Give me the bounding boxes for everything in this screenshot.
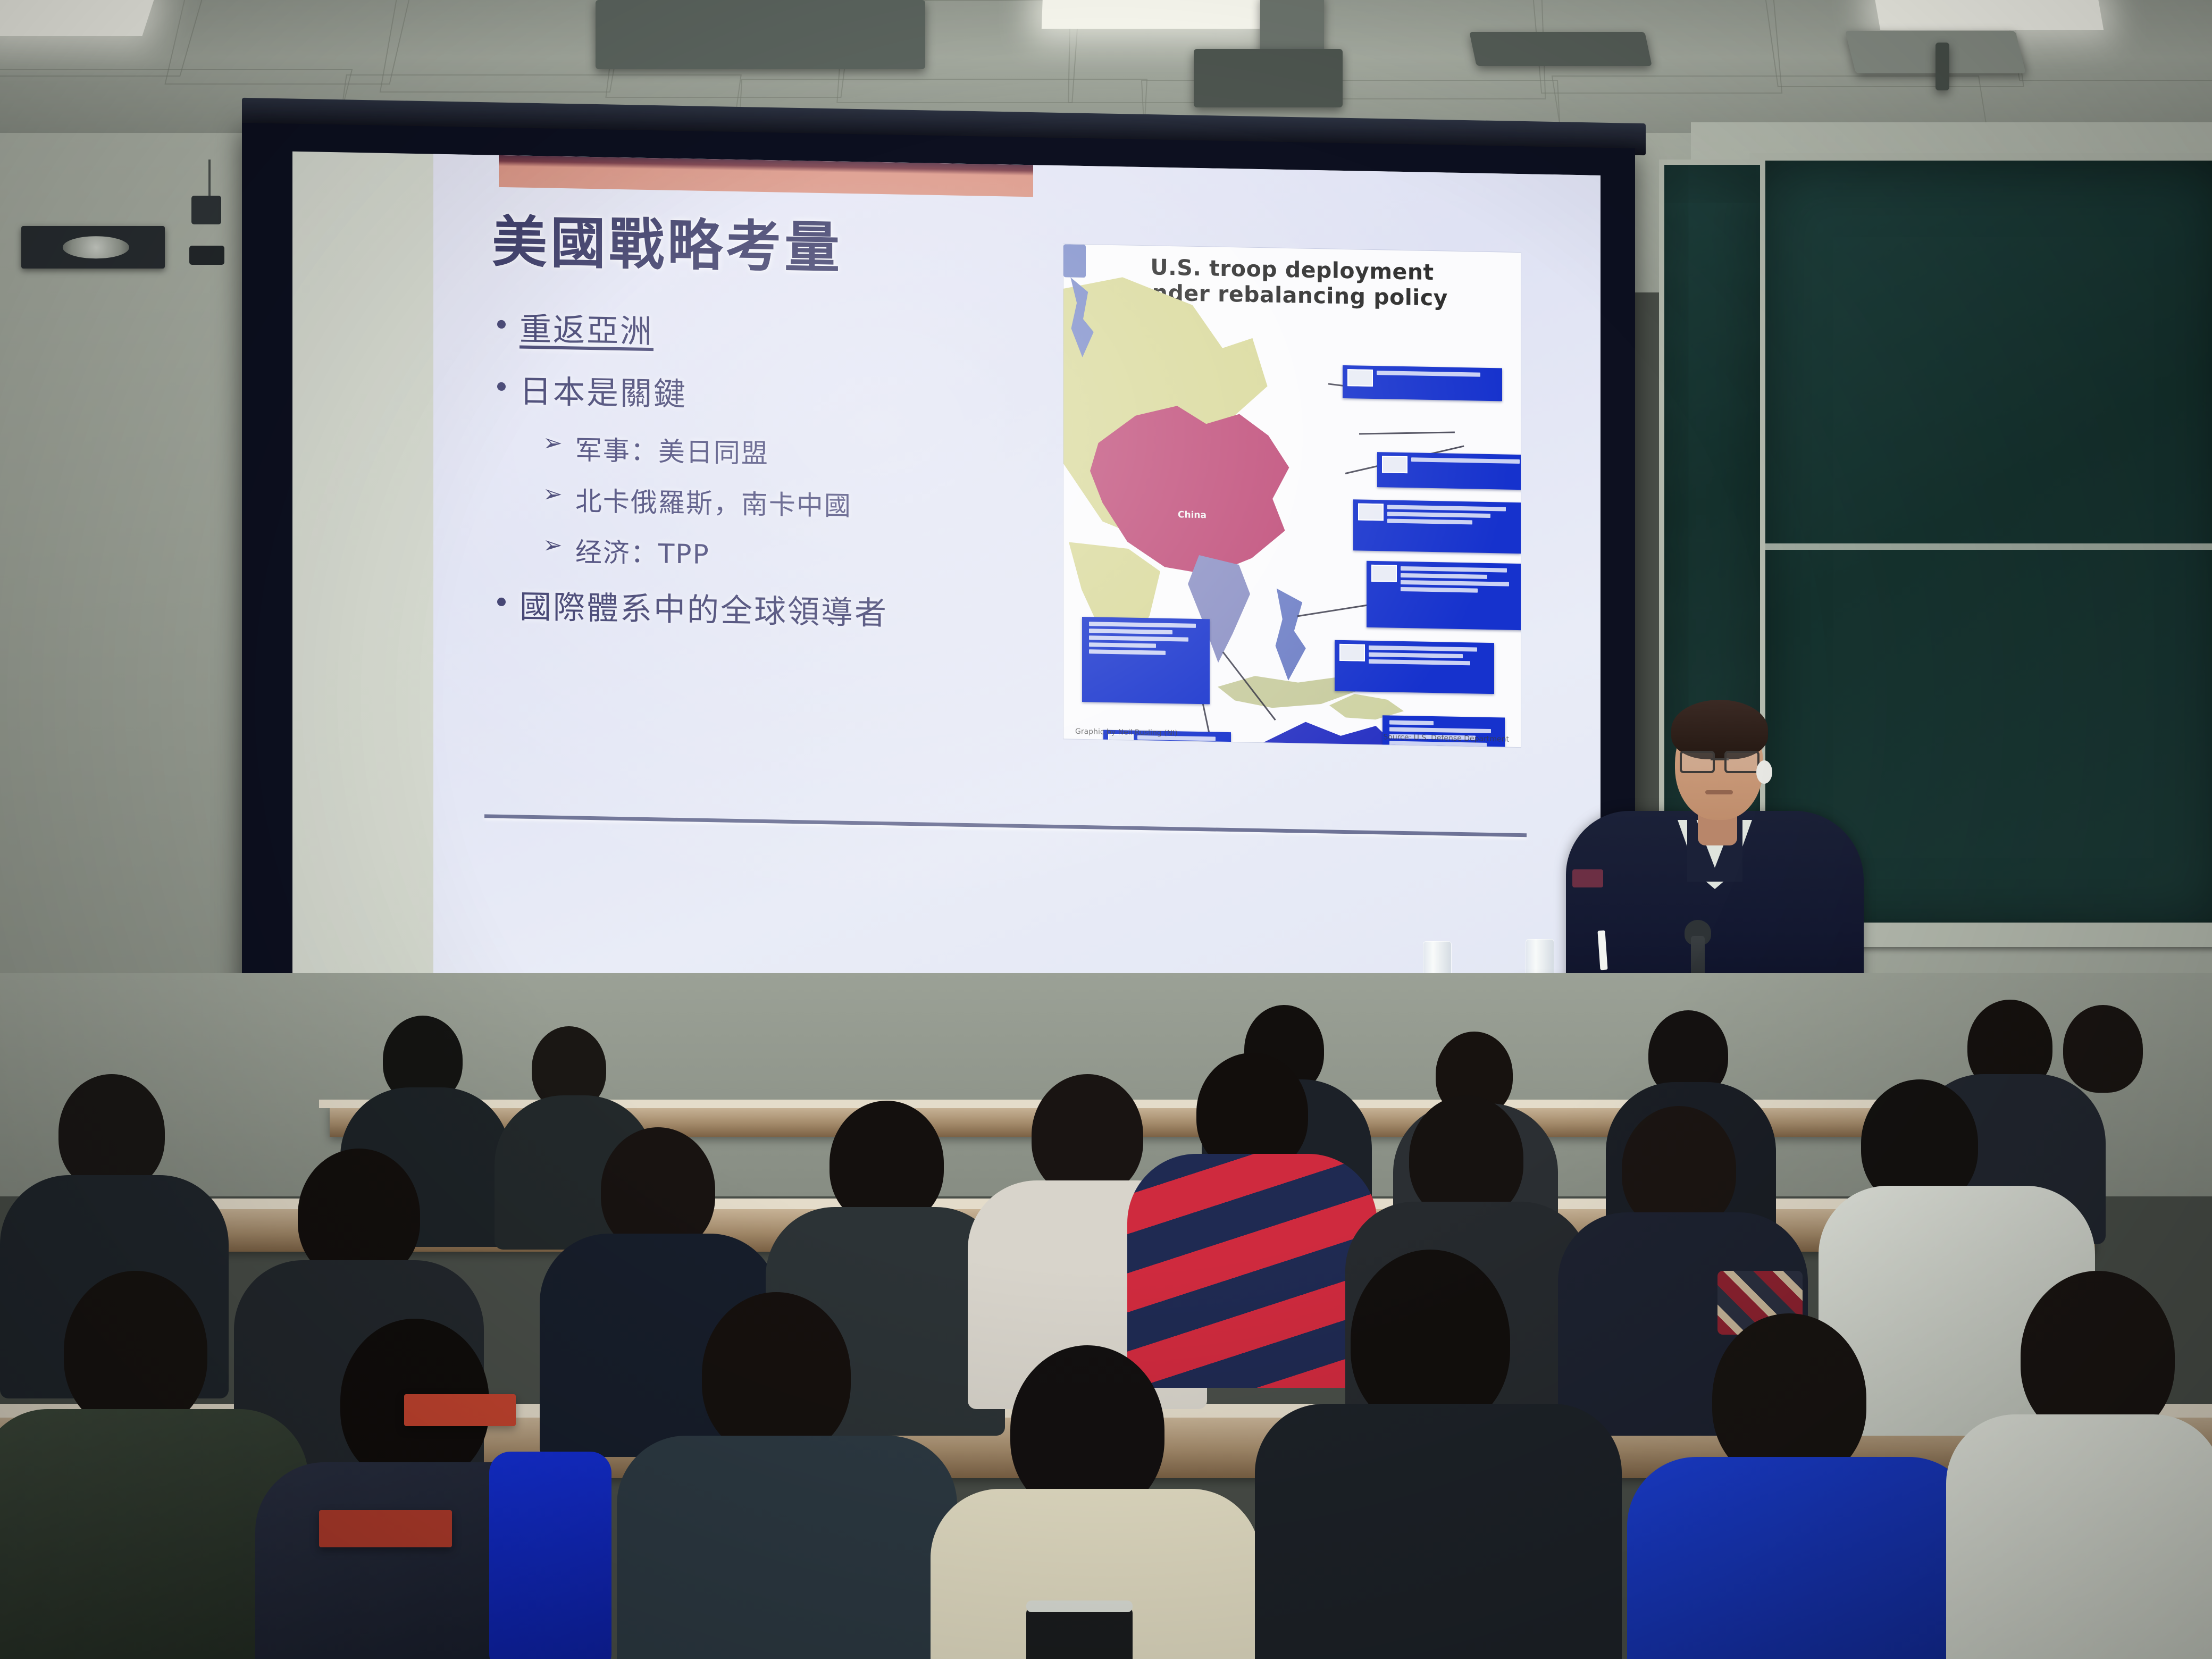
ceiling-light (1042, 0, 1261, 29)
bullet-dot-icon (497, 598, 506, 606)
map-callout (1082, 617, 1210, 704)
flag-icon-south-korea (1347, 369, 1373, 387)
slide-accent-bar (499, 155, 1033, 197)
bullet-text: 國際體系中的全球領導者 (520, 581, 888, 634)
arrow-bullet-icon: ➢ (543, 428, 564, 458)
audience-head (1032, 1074, 1143, 1196)
map-credit-left: Graphic by Neil Rusling (NI) (1075, 727, 1178, 738)
desk-notebook (404, 1394, 516, 1426)
paper-cup-rim (1026, 1601, 1133, 1612)
arrow-bullet-icon: ➢ (543, 530, 564, 560)
wall-speaker (21, 226, 165, 269)
map-region-label-china: China (1178, 509, 1206, 521)
audience-body (1255, 1404, 1622, 1659)
flag-icon-guam (1358, 503, 1384, 521)
sprinkler-head (1935, 43, 1949, 90)
camera-bracket (189, 246, 224, 265)
map-callout (1377, 452, 1521, 490)
slide-bullet-list: 重返亞洲 日本是關鍵 ➢ 军事：美日同盟 ➢ 北卡俄羅斯，南卡中國 (497, 303, 1050, 653)
sub-bullet-text: 北卡俄羅斯，南卡中國 (575, 480, 852, 523)
audience-body-white-puffer (1946, 1414, 2212, 1659)
speaker-mouth (1705, 790, 1733, 794)
projection-screen-frame: 美國戰略考量 重返亞洲 日本是關鍵 ➢ 军事：美日同盟 (242, 123, 1635, 1058)
bullet-item: 國際體系中的全球領導者 (497, 581, 1050, 637)
audience-head (58, 1074, 165, 1191)
projector (596, 0, 925, 69)
lecture-hall-photo: 美國戰略考量 重返亞洲 日本是關鍵 ➢ 军事：美日同盟 (0, 0, 2212, 1659)
projector-vent (1469, 32, 1652, 66)
slide-divider-line (484, 814, 1527, 837)
audience-head (1351, 1250, 1510, 1430)
bullet-dot-icon (497, 320, 506, 329)
speaker-presenter (1566, 686, 1864, 1005)
map-callout (1367, 561, 1521, 630)
bullet-item: 日本是關鍵 (497, 365, 1050, 422)
security-camera (191, 196, 221, 224)
presentation-slide: 美國戰略考量 重返亞洲 日本是關鍵 ➢ 军事：美日同盟 (433, 154, 1601, 1002)
sub-bullet-text: 经济：TPP (575, 531, 710, 572)
bullet-text: 日本是關鍵 (520, 366, 687, 415)
flag-icon-philippines (1371, 565, 1397, 582)
ceiling-light (1874, 0, 2104, 30)
ceiling-light (0, 0, 156, 36)
speaker-earpiece (1756, 760, 1772, 784)
glasses-icon (1680, 751, 1759, 769)
map-callout (1343, 365, 1502, 401)
blackboard-divider-rail (1757, 543, 2212, 550)
audience-body-blue-jacket (1627, 1457, 1978, 1659)
projector-lens-housing (1194, 49, 1343, 107)
map-graphic: U.S. troop deployment under rebalancing … (1063, 244, 1521, 747)
map-landmass-philippines (1260, 588, 1319, 685)
map-callout (1353, 499, 1521, 554)
sub-bullet-item: ➢ 经济：TPP (543, 530, 1050, 577)
bullet-item: 重返亞洲 (497, 303, 1050, 359)
audience-area (0, 973, 2212, 1659)
audience-head-glasses (2063, 1005, 2143, 1093)
sub-bullet-item: ➢ 北卡俄羅斯，南卡中國 (543, 479, 1050, 526)
sub-bullet-text: 军事：美日同盟 (575, 429, 769, 471)
bullet-text: 重返亞洲 (520, 304, 653, 353)
flag-icon-singapore (1339, 644, 1365, 661)
desk-notebook (319, 1510, 452, 1547)
audience-body-striped-jacket (1127, 1154, 1377, 1388)
map-leader-line (1359, 432, 1455, 435)
backpack-strap (489, 1452, 611, 1659)
audience-body (617, 1436, 957, 1659)
slide-title: 美國戰略考量 (492, 197, 843, 283)
audience-head (702, 1292, 851, 1457)
sub-bullet-item: ➢ 军事：美日同盟 (543, 428, 1050, 475)
audience-head (64, 1271, 207, 1430)
bullet-dot-icon (497, 382, 506, 391)
camera-cable (208, 160, 211, 197)
speaker-sleeve-badge (1572, 869, 1603, 887)
projection-screen-canvas: 美國戰略考量 重返亞洲 日本是關鍵 ➢ 军事：美日同盟 (292, 152, 1601, 1026)
paper-cup (1026, 1606, 1133, 1659)
speaker-cone-icon (63, 236, 129, 258)
arrow-bullet-icon: ➢ (543, 479, 564, 509)
flag-icon-japan (1382, 456, 1407, 473)
map-callout (1335, 640, 1494, 694)
